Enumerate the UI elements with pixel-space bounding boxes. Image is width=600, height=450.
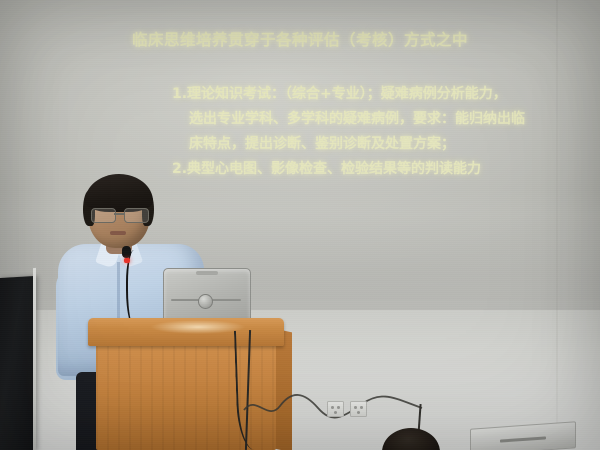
blackboard-frame-edge (33, 268, 36, 450)
laptop-hinge (196, 271, 218, 275)
wall-outlet-2 (350, 401, 367, 417)
microphone-led-indicator (124, 258, 130, 263)
cable-left (234, 329, 280, 450)
speaker-hair (85, 174, 153, 212)
wall-outlet-1 (327, 401, 344, 417)
presentation-photo: 临床思维培养贯穿于各种评估（考核）方式之中 1.理论知识考试：（综合+专业）；疑… (0, 0, 600, 450)
slide-line-1: 1.理论知识考试：（综合+专业）；疑难病例分析能力， (172, 82, 592, 107)
outlet-slot (360, 406, 363, 409)
slide-line-4: 2.典型心电图、影像检查、检验结果等的判读能力 (172, 157, 592, 182)
slide-line-2: 选出专业学科、多学科的疑难病例，要求：能归纳出临 (172, 107, 592, 132)
slide-body: 1.理论知识考试：（综合+专业）；疑难病例分析能力， 选出专业学科、多学科的疑难… (172, 82, 592, 182)
speaker-mouth (110, 231, 126, 235)
glasses-lens-left (91, 208, 116, 223)
glasses-bridge (114, 213, 125, 215)
podium-glare (150, 320, 246, 334)
blackboard-panel (0, 276, 36, 450)
glasses-icon (91, 208, 148, 221)
outlet-slot (357, 411, 360, 414)
laptop-logo-icon (198, 294, 213, 309)
outlet-slot (354, 406, 357, 409)
slide-line-3: 床特点，提出诊断、鉴别诊断及处置方案； (172, 132, 592, 157)
glasses-lens-right (124, 208, 149, 223)
microphone-head-icon (122, 246, 131, 258)
outlet-slot (331, 406, 334, 409)
outlet-slot (337, 406, 340, 409)
outlet-slot (334, 411, 337, 414)
slide-title: 临床思维培养贯穿于各种评估（考核）方式之中 (0, 28, 600, 50)
